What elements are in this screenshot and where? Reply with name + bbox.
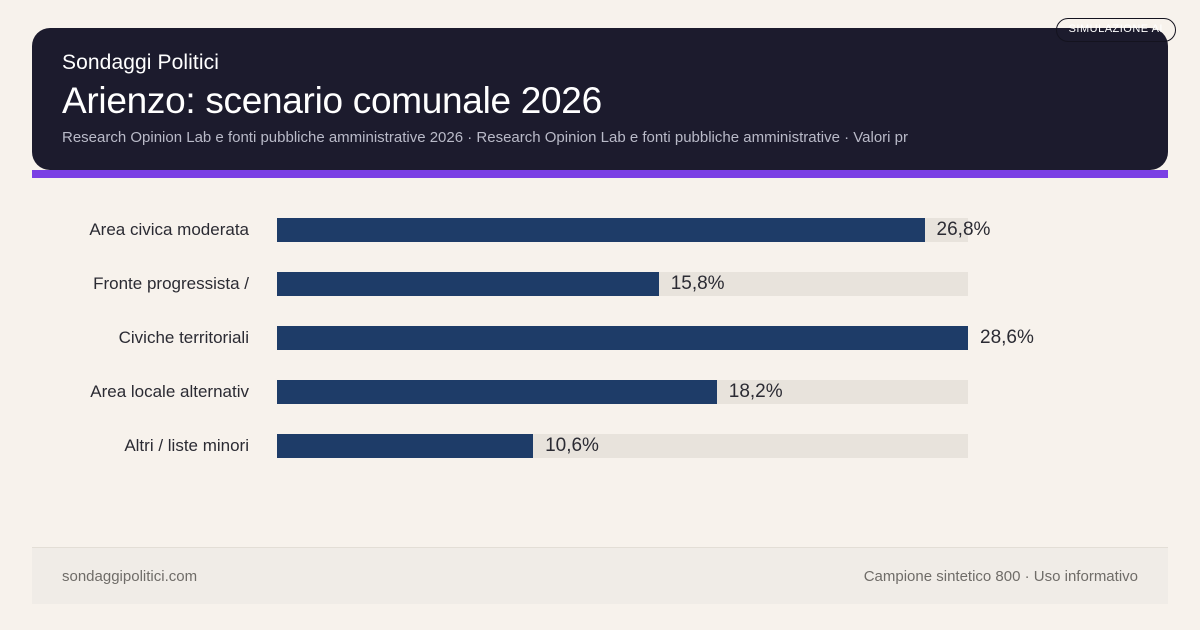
bar-fill	[277, 218, 925, 242]
bar-track	[277, 272, 968, 296]
chart-row: Fronte progressista / 15,8%	[0, 257, 1200, 311]
bar-fill	[277, 326, 968, 350]
header-banner: Sondaggi Politici Arienzo: scenario comu…	[32, 28, 1168, 170]
bar-value-label: 26,8%	[937, 219, 991, 241]
chart-row: Civiche territoriali 28,6%	[0, 311, 1200, 365]
bar-value-label: 18,2%	[729, 381, 783, 403]
page-title: Arienzo: scenario comunale 2026	[62, 78, 1138, 124]
bar-track	[277, 380, 968, 404]
chart-row: Area civica moderata 26,8%	[0, 203, 1200, 257]
chart-row: Altri / liste minori 10,6%	[0, 419, 1200, 473]
bar-fill	[277, 380, 717, 404]
bar-track	[277, 218, 968, 242]
bar-category-label: Area civica moderata	[0, 220, 249, 240]
bar-chart: Area civica moderata 26,8% Fronte progre…	[0, 203, 1200, 473]
bar-value-label: 28,6%	[980, 327, 1034, 349]
footer-bar: sondaggipolitici.com Campione sintetico …	[32, 547, 1168, 604]
bar-category-label: Civiche territoriali	[0, 328, 249, 348]
bar-fill	[277, 272, 659, 296]
chart-row: Area locale alternativ 18,2%	[0, 365, 1200, 419]
header-subtitle: Research Opinion Lab e fonti pubbliche a…	[62, 128, 1138, 148]
bar-value-label: 10,6%	[545, 435, 599, 457]
bar-value-label: 15,8%	[671, 273, 725, 295]
bar-category-label: Altri / liste minori	[0, 436, 249, 456]
bar-category-label: Fronte progressista /	[0, 274, 249, 294]
bar-track	[277, 434, 968, 458]
status-badge: SIMULAZIONE AI	[1056, 18, 1176, 42]
header-card: Sondaggi Politici Arienzo: scenario comu…	[32, 28, 1168, 170]
bar-fill	[277, 434, 533, 458]
bar-category-label: Area locale alternativ	[0, 382, 249, 402]
footer-site-label: sondaggipolitici.com	[62, 568, 197, 585]
brand-kicker: Sondaggi Politici	[62, 50, 1138, 76]
bar-track	[277, 326, 968, 350]
accent-divider	[32, 170, 1168, 178]
footer-note-label: Campione sintetico 800 · Uso informativo	[864, 568, 1138, 585]
